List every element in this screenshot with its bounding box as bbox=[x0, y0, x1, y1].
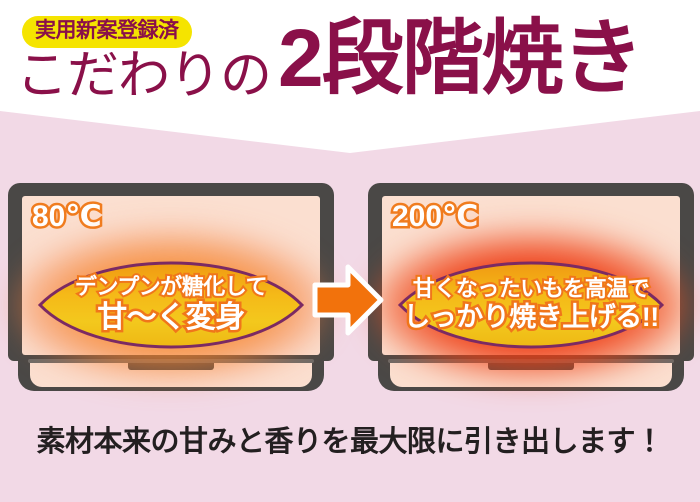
utility-model-badge: 実用新案登録済 bbox=[22, 16, 192, 48]
bottom-caption: 素材本来の甘みと香りを最大限に引き出します！ bbox=[0, 418, 700, 460]
potato-caption-80: デンプンが糖化して 甘〜く変身 bbox=[36, 251, 306, 359]
promo-banner: 実用新案登録済 こだわりの 2段階焼き 80℃ bbox=[0, 0, 700, 502]
sweet-potato-80: デンプンが糖化して 甘〜く変身 bbox=[36, 251, 306, 359]
oven-stage-80: 80℃ デンプンが糖化して 甘〜く変身 bbox=[8, 183, 334, 394]
potato-caption-200: 甘くなったいもを高温で しっかり焼き上げる!! bbox=[396, 251, 666, 359]
headline-subtitle: こだわりの bbox=[16, 50, 271, 102]
temperature-label-80: 80℃ bbox=[32, 199, 102, 234]
potato-line1: デンプンが糖化して bbox=[75, 274, 267, 299]
potato-line2: しっかり焼き上げる!! bbox=[403, 302, 658, 334]
temperature-label-200: 200℃ bbox=[392, 199, 478, 234]
right-arrow-icon bbox=[312, 262, 384, 338]
potato-line2: 甘〜く変身 bbox=[97, 300, 245, 335]
oven-stage-200: 200℃ 甘くなったいもを高温で しっかり焼き上げる!! bbox=[368, 183, 694, 394]
headline-title: 2段階焼き bbox=[278, 14, 642, 104]
sweet-potato-200: 甘くなったいもを高温で しっかり焼き上げる!! bbox=[396, 251, 666, 359]
potato-line1: 甘くなったいもを高温で bbox=[413, 276, 650, 301]
headline-block: 実用新案登録済 こだわりの 2段階焼き bbox=[0, 0, 700, 120]
